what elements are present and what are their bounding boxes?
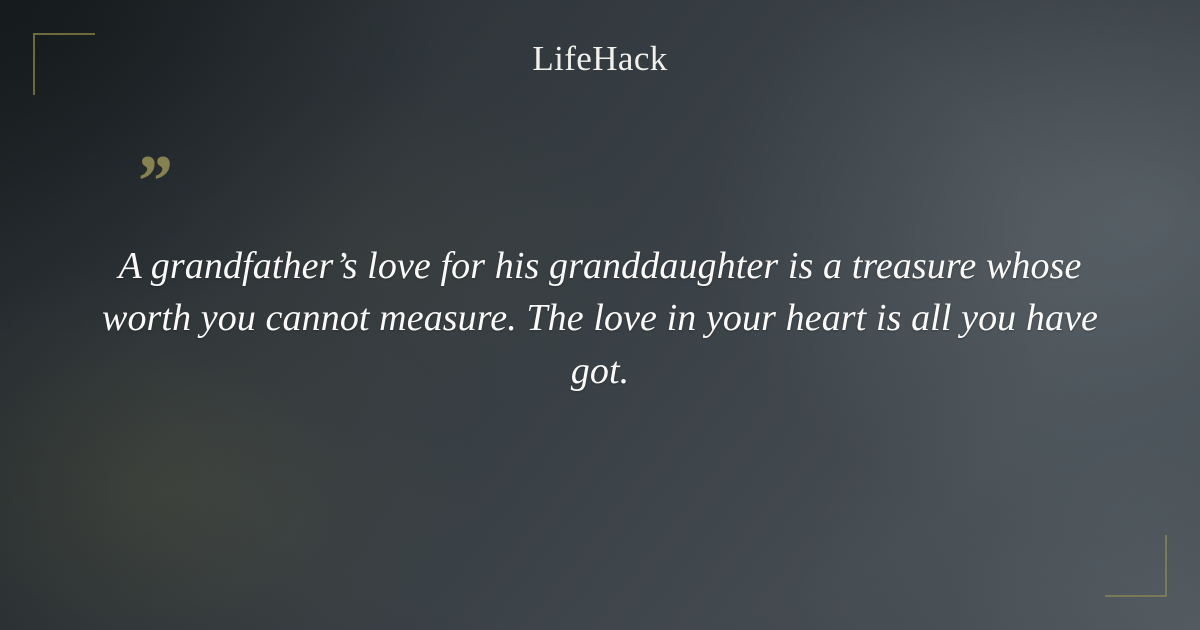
quote-card: LifeHack ” A grandfather’s love for his … (0, 0, 1200, 630)
brand-logo: LifeHack (0, 39, 1200, 79)
quotation-mark-icon: ” (100, 160, 1100, 206)
quote-block: ” A grandfather’s love for his granddaug… (100, 160, 1100, 397)
quote-text: A grandfather’s love for his granddaught… (100, 240, 1100, 397)
